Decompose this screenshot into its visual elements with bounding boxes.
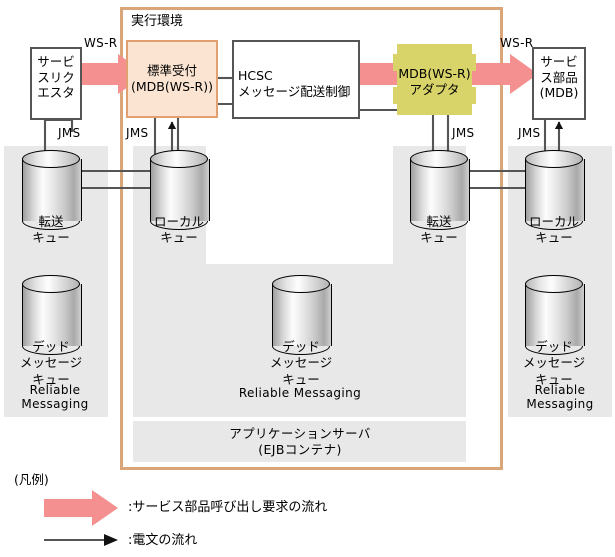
mdb-wsr-adapter-label: MDB(WS-R) アダプタ [391,66,478,97]
legend-icons [0,0,615,557]
legend-thin-arrow-icon [104,534,118,546]
legend-thick-arrow-icon [44,490,118,526]
legend-item-2: :電文の流れ [128,533,197,548]
legend-item-1: :サービス部品呼び出し要求の流れ [128,500,327,515]
